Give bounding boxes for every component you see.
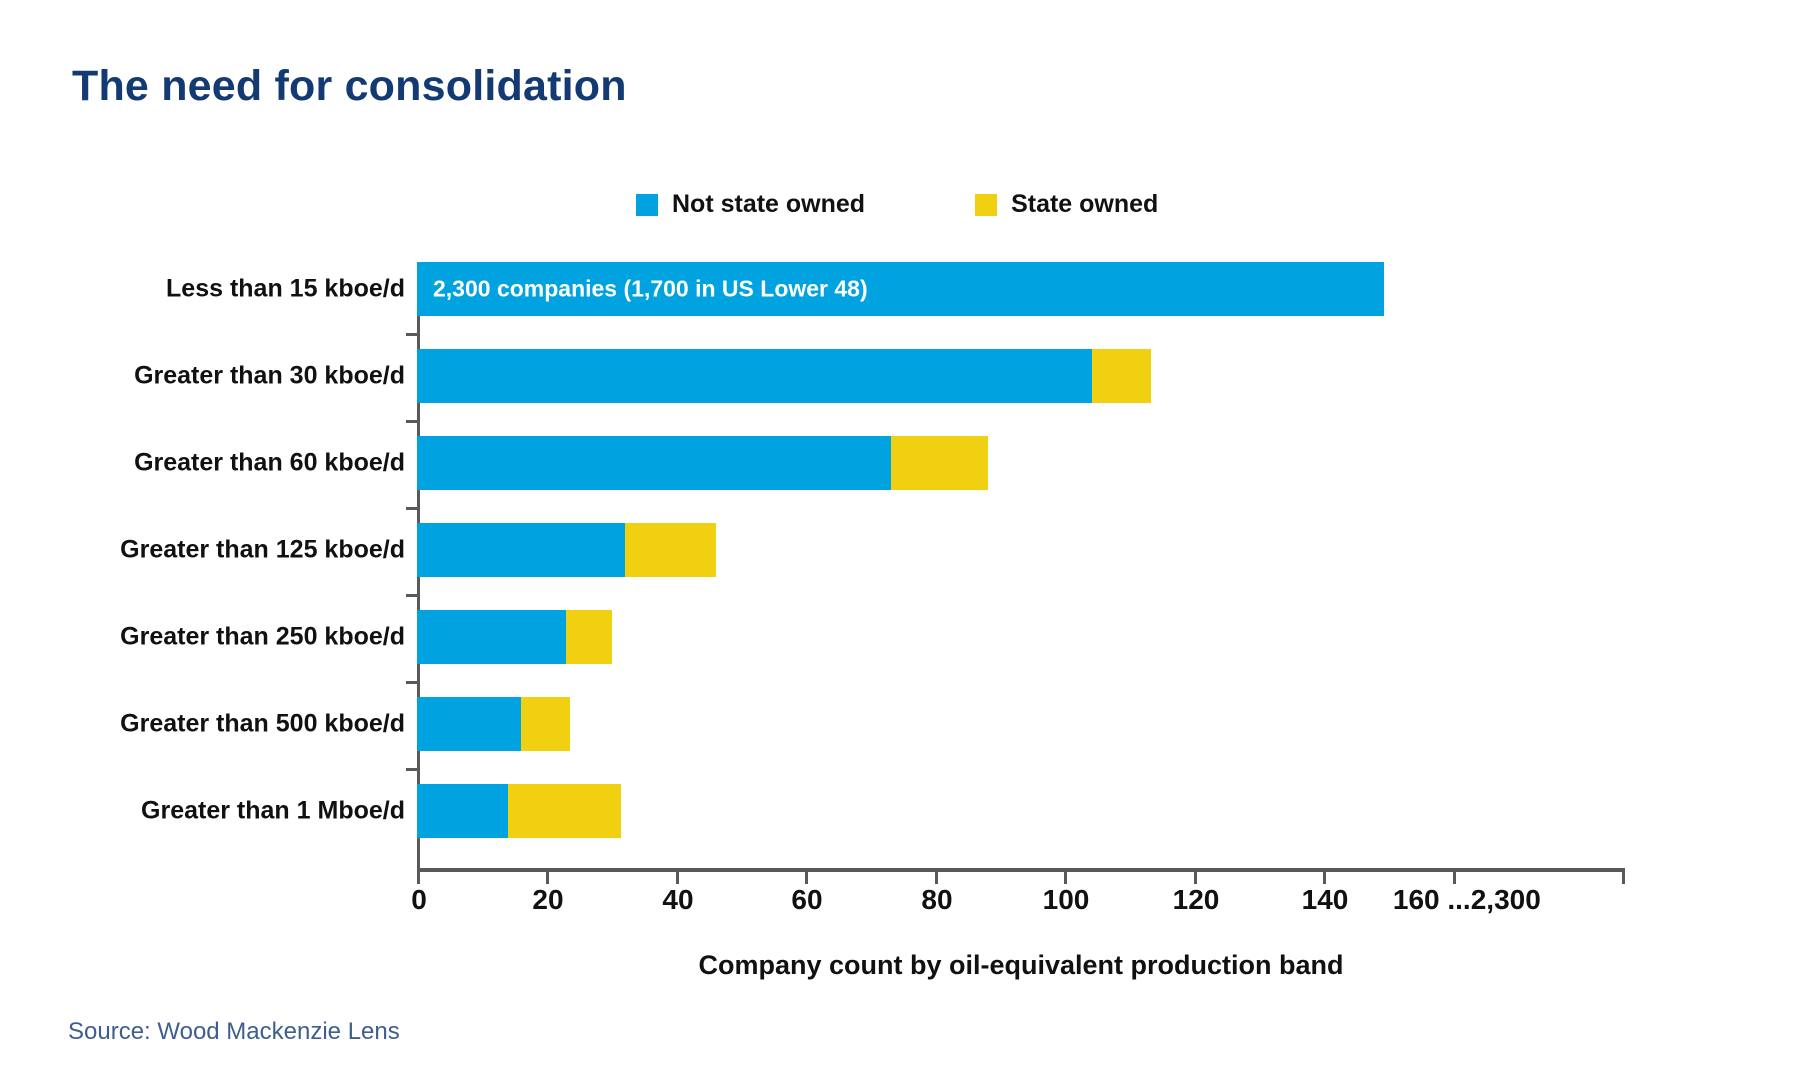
y-axis-label-3: Greater than 125 kboe/d xyxy=(120,536,405,565)
x-axis-tick xyxy=(417,872,420,884)
x-axis-line xyxy=(417,868,1625,872)
y-axis-label-6: Greater than 1 Mboe/d xyxy=(141,797,405,826)
y-axis-label-1: Greater than 30 kboe/d xyxy=(134,362,405,391)
bar-row[interactable] xyxy=(417,436,988,490)
plot-region: 2,300 companies (1,700 in US Lower 48) xyxy=(417,262,1624,870)
x-axis-tick-label: 140 xyxy=(1302,884,1349,916)
x-axis-tick-label: 20 xyxy=(532,884,563,916)
bar-row[interactable] xyxy=(417,349,1151,403)
x-axis-tick xyxy=(546,872,549,884)
bar-segment-not-state-owned[interactable] xyxy=(417,784,508,838)
bar-row[interactable] xyxy=(417,784,621,838)
x-axis-tick xyxy=(676,872,679,884)
x-axis-tick xyxy=(1064,872,1067,884)
source-note: Source: Wood Mackenzie Lens xyxy=(68,1018,400,1046)
y-axis-label-4: Greater than 250 kboe/d xyxy=(120,623,405,652)
bar-row[interactable] xyxy=(417,523,716,577)
bar-segment-not-state-owned[interactable] xyxy=(417,349,1092,403)
x-axis-tick-label: 0 xyxy=(411,884,427,916)
x-axis-tick-end xyxy=(1622,872,1625,884)
bar-segment-state-owned[interactable] xyxy=(625,523,716,577)
x-axis-tick-label: 40 xyxy=(662,884,693,916)
x-axis-tick xyxy=(935,872,938,884)
x-axis-tick xyxy=(1194,872,1197,884)
bar-segment-not-state-owned[interactable] xyxy=(417,610,566,664)
x-axis-tick xyxy=(1453,872,1456,884)
x-axis-tick-label: 60 xyxy=(791,884,822,916)
bar-segment-not-state-owned[interactable] xyxy=(417,436,891,490)
x-axis-tick-label: 120 xyxy=(1173,884,1220,916)
x-axis-tick xyxy=(1323,872,1326,884)
bar-segment-not-state-owned[interactable] xyxy=(417,697,521,751)
x-axis-tick-label-broken: 160 ...2,300 xyxy=(1393,884,1541,916)
bar-segment-not-state-owned[interactable] xyxy=(417,523,625,577)
x-axis-title: Company count by oil-equivalent producti… xyxy=(417,950,1625,981)
bar-chart: Less than 15 kboe/d Greater than 30 kboe… xyxy=(0,0,1800,1080)
bar-segment-state-owned[interactable] xyxy=(891,436,988,490)
bar-segment-state-owned[interactable] xyxy=(566,610,612,664)
y-axis-label-2: Greater than 60 kboe/d xyxy=(134,449,405,478)
x-axis-tick-label: 100 xyxy=(1043,884,1090,916)
bar-segment-state-owned[interactable] xyxy=(508,784,621,838)
bar-segment-state-owned[interactable] xyxy=(521,697,570,751)
y-axis-label-5: Greater than 500 kboe/d xyxy=(120,710,405,739)
bar-row[interactable]: 2,300 companies (1,700 in US Lower 48) xyxy=(417,262,1384,316)
bar-annotation: 2,300 companies (1,700 in US Lower 48) xyxy=(433,276,868,303)
y-axis-label-0: Less than 15 kboe/d xyxy=(166,275,405,304)
bar-row[interactable] xyxy=(417,697,570,751)
x-axis-tick-label: 80 xyxy=(921,884,952,916)
bar-segment-state-owned[interactable] xyxy=(1092,349,1151,403)
bar-row[interactable] xyxy=(417,610,612,664)
x-axis-tick xyxy=(805,872,808,884)
